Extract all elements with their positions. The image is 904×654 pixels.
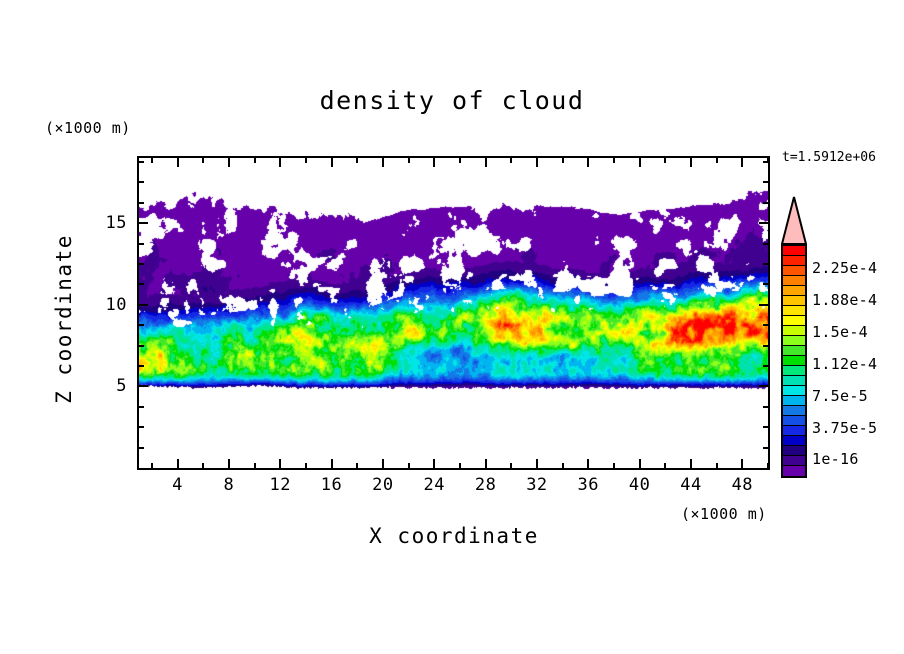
x-tick-label: 12 [258, 475, 302, 495]
x-tick-minor-top [562, 158, 564, 163]
x-tick-minor [459, 463, 461, 468]
x-tick-label: 48 [720, 475, 764, 495]
x-tick-minor [202, 463, 204, 468]
colorbar-over-arrow [781, 196, 807, 245]
colorbar-band [783, 346, 805, 356]
y-tick-minor [139, 406, 144, 408]
x-tick-major [177, 459, 179, 468]
x-tick-major-top [536, 158, 538, 167]
x-tick-major-top [433, 158, 435, 167]
x-tick-label: 20 [361, 475, 405, 495]
x-tick-major-top [690, 158, 692, 167]
y-tick-minor-right [763, 202, 768, 204]
x-tick-major-top [382, 158, 384, 167]
colorbar-band [783, 306, 805, 316]
x-tick-label: 44 [669, 475, 713, 495]
y-tick-minor-right [763, 447, 768, 449]
x-axis-title: X coordinate [137, 524, 771, 548]
colorbar-band [783, 446, 805, 456]
y-tick-minor-right [763, 324, 768, 326]
x-tick-minor [305, 463, 307, 468]
y-tick-minor [139, 263, 144, 265]
x-tick-major-top [177, 158, 179, 167]
x-tick-minor [151, 463, 153, 468]
x-tick-label: 40 [618, 475, 662, 495]
x-tick-major [587, 459, 589, 468]
y-tick-label: 15 [87, 213, 127, 233]
colorbar-band [783, 466, 805, 476]
y-tick-major [139, 222, 148, 224]
y-tick-label: 10 [87, 295, 127, 315]
y-tick-minor [139, 324, 144, 326]
x-tick-minor [254, 463, 256, 468]
colorbar-band [783, 246, 805, 256]
colorbar-band [783, 296, 805, 306]
x-tick-major-top [331, 158, 333, 167]
x-tick-major-top [228, 158, 230, 167]
x-tick-minor-top [305, 158, 307, 163]
y-tick-minor [139, 181, 144, 183]
colorbar-band [783, 396, 805, 406]
y-tick-minor-right [763, 283, 768, 285]
x-tick-major [536, 459, 538, 468]
x-tick-major [279, 459, 281, 468]
x-tick-minor [716, 463, 718, 468]
x-tick-major-top [485, 158, 487, 167]
colorbar-band [783, 286, 805, 296]
colorbar-tick-label: 7.5e-5 [812, 387, 868, 405]
y-tick-major-right [759, 385, 768, 387]
x-tick-minor-top [664, 158, 666, 163]
colorbar-band [783, 256, 805, 266]
x-tick-minor [562, 463, 564, 468]
figure-canvas: density of cloud (×1000 m) t=1.5912e+06 … [0, 0, 904, 654]
colorbar-band [783, 336, 805, 346]
contour-field [139, 158, 768, 468]
y-axis-title: Z coordinate [52, 229, 76, 409]
x-tick-major [433, 459, 435, 468]
x-tick-minor-top [151, 158, 153, 163]
colorbar-band [783, 386, 805, 396]
colorbar-tick-label: 1.88e-4 [812, 291, 877, 309]
x-tick-major-top [741, 158, 743, 167]
x-tick-label: 8 [207, 475, 251, 495]
y-tick-minor-right [763, 263, 768, 265]
y-tick-minor [139, 365, 144, 367]
colorbar-band [783, 416, 805, 426]
x-tick-major-top [279, 158, 281, 167]
x-tick-major [485, 459, 487, 468]
y-tick-major-right [759, 304, 768, 306]
x-tick-minor-top [613, 158, 615, 163]
colorbar-tick-label: 2.25e-4 [812, 259, 877, 277]
colorbar-band [783, 266, 805, 276]
colorbar-band [783, 436, 805, 446]
colorbar-band [783, 356, 805, 366]
colorbar-band [783, 366, 805, 376]
x-tick-label: 32 [515, 475, 559, 495]
y-tick-label: 5 [87, 376, 127, 396]
y-tick-minor [139, 426, 144, 428]
colorbar-tick-label: 1.12e-4 [812, 355, 877, 373]
y-tick-major [139, 304, 148, 306]
y-tick-minor-right [763, 426, 768, 428]
y-tick-minor [139, 283, 144, 285]
y-tick-minor-right [763, 365, 768, 367]
x-tick-label: 4 [156, 475, 200, 495]
plot-area [137, 156, 770, 470]
y-tick-minor [139, 345, 144, 347]
x-tick-minor [356, 463, 358, 468]
x-tick-minor-top [510, 158, 512, 163]
colorbar-tick-label: 1.5e-4 [812, 323, 868, 341]
x-tick-label: 24 [412, 475, 456, 495]
x-tick-major [741, 459, 743, 468]
x-tick-minor-top [716, 158, 718, 163]
y-axis-unit-label: (×1000 m) [45, 119, 131, 137]
x-tick-label: 28 [464, 475, 508, 495]
colorbar-band [783, 456, 805, 466]
colorbar-band [783, 406, 805, 416]
x-tick-label: 16 [310, 475, 354, 495]
colorbar-band [783, 376, 805, 386]
colorbar-tick-label: 1e-16 [812, 450, 859, 468]
x-tick-major [382, 459, 384, 468]
x-tick-minor-top [459, 158, 461, 163]
x-tick-minor [664, 463, 666, 468]
y-tick-minor-right [763, 181, 768, 183]
y-tick-minor-right [763, 161, 768, 163]
y-tick-major [139, 385, 148, 387]
y-tick-minor [139, 447, 144, 449]
colorbar-band [783, 316, 805, 326]
x-tick-major [331, 459, 333, 468]
x-tick-minor-top [408, 158, 410, 163]
x-tick-major-top [587, 158, 589, 167]
x-tick-minor [767, 463, 769, 468]
y-tick-major-right [759, 222, 768, 224]
x-tick-minor [408, 463, 410, 468]
x-tick-major-top [639, 158, 641, 167]
x-tick-minor-top [254, 158, 256, 163]
x-tick-minor-top [356, 158, 358, 163]
colorbar-band [783, 276, 805, 286]
y-tick-minor-right [763, 345, 768, 347]
colorbar [781, 244, 807, 478]
x-tick-major [639, 459, 641, 468]
colorbar-band [783, 326, 805, 336]
x-tick-minor-top [202, 158, 204, 163]
y-tick-minor-right [763, 243, 768, 245]
x-tick-minor [510, 463, 512, 468]
x-tick-major [228, 459, 230, 468]
y-tick-minor [139, 243, 144, 245]
x-axis-unit-label: (×1000 m) [681, 505, 767, 523]
x-tick-major [690, 459, 692, 468]
page-title: density of cloud [0, 86, 904, 115]
x-tick-label: 36 [566, 475, 610, 495]
x-tick-minor [613, 463, 615, 468]
y-tick-minor [139, 202, 144, 204]
colorbar-band [783, 426, 805, 436]
time-annotation: t=1.5912e+06 [782, 150, 876, 165]
y-tick-minor-right [763, 406, 768, 408]
colorbar-tick-label: 3.75e-5 [812, 419, 877, 437]
y-tick-minor [139, 161, 144, 163]
